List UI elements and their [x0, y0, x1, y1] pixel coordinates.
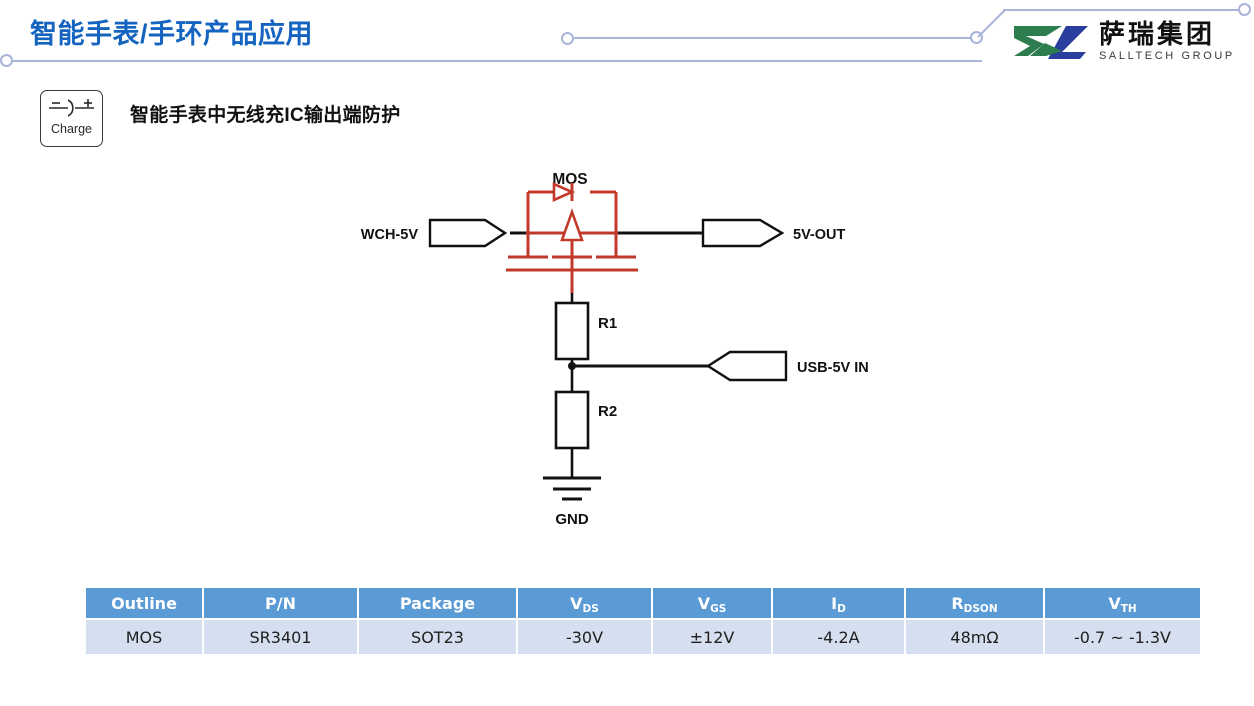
section-heading: 智能手表中无线充IC输出端防护 [130, 100, 401, 127]
header-dot-top-right [1238, 3, 1251, 16]
port-wch-5v-shape [430, 220, 505, 246]
charge-badge-caption: Charge [51, 122, 92, 136]
charge-icon [46, 97, 98, 119]
header-rule-top-right [1003, 9, 1240, 11]
circuit-diagram: MOS WCH-5V 5V-OUT R1 [300, 160, 920, 560]
resistor-r1-body [556, 303, 588, 359]
mosfet-channel-arrow-icon [562, 212, 582, 240]
cell-outline: MOS [86, 620, 202, 654]
col-rdson: RDSON [906, 588, 1043, 618]
cell-package: SOT23 [359, 620, 516, 654]
port-5v-out-label: 5V-OUT [793, 227, 846, 243]
header-dot-left [0, 54, 13, 67]
port-wch-5v-label: WCH-5V [361, 227, 419, 243]
logo-name-cn: 萨瑞集团 [1099, 22, 1235, 49]
logo-mark-icon [1012, 22, 1090, 62]
col-pn: P/N [204, 588, 357, 618]
ground-label: GND [555, 511, 589, 528]
col-id: ID [773, 588, 904, 618]
col-outline: Outline [86, 588, 202, 618]
cell-pn: SR3401 [204, 620, 357, 654]
resistor-r2-body [556, 392, 588, 448]
page-title: 智能手表/手环产品应用 [30, 12, 313, 51]
ground-icon [543, 478, 601, 499]
col-package: Package [359, 588, 516, 618]
port-usb-5v-in-label: USB-5V IN [797, 360, 869, 376]
cell-rdson: 48mΩ [906, 620, 1043, 654]
port-usb-5v-in-shape [708, 352, 786, 380]
spec-table: Outline P/N Package VDS VGS ID RDSON VTH… [84, 586, 1202, 656]
header-dot-mid [561, 32, 574, 45]
port-5v-out-shape [703, 220, 782, 246]
resistor-r2-label: R2 [598, 403, 617, 420]
header-trace-diagonal [977, 9, 1005, 37]
header-rule-top [12, 60, 982, 62]
col-vds: VDS [518, 588, 651, 618]
table-row: MOS SR3401 SOT23 -30V ±12V -4.2A 48mΩ -0… [86, 620, 1200, 654]
brand-logo: 萨瑞集团 SALLTECH GROUP [1012, 22, 1235, 62]
cell-vds: -30V [518, 620, 651, 654]
cell-vgs: ±12V [653, 620, 771, 654]
table-header-row: Outline P/N Package VDS VGS ID RDSON VTH [86, 588, 1200, 618]
cell-id: -4.2A [773, 620, 904, 654]
cell-vth: -0.7 ~ -1.3V [1045, 620, 1200, 654]
resistor-r1-label: R1 [598, 315, 617, 332]
header-rule-mid [574, 37, 979, 39]
charge-badge: Charge [40, 90, 103, 147]
junction-dot [568, 362, 576, 370]
col-vth: VTH [1045, 588, 1200, 618]
logo-name-en: SALLTECH GROUP [1099, 50, 1235, 62]
col-vgs: VGS [653, 588, 771, 618]
